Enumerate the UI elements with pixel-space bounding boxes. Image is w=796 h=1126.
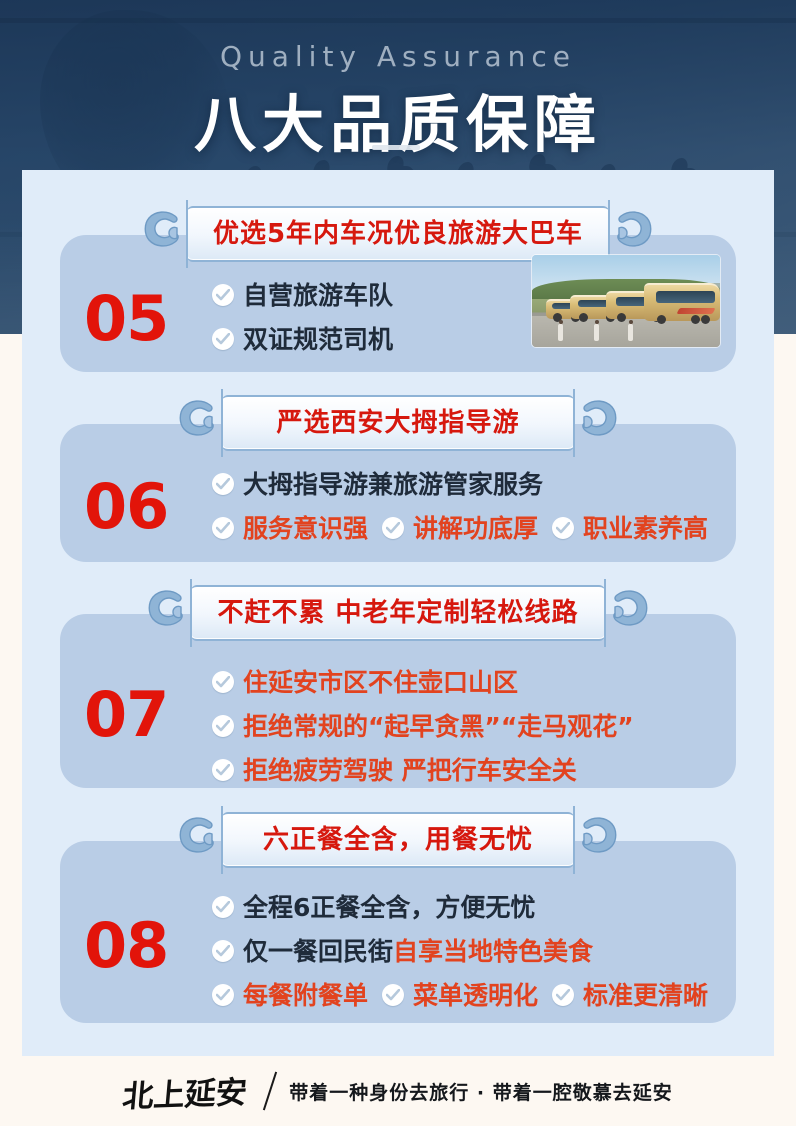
card-banner: 不赶不累 中老年定制轻松线路 — [60, 584, 736, 642]
card-number: 06 — [84, 476, 168, 538]
bullet-text: 全程6正餐全含，方便无忧 — [243, 895, 535, 920]
ruyi-cloud-icon — [574, 395, 626, 451]
ruyi-cloud-icon — [170, 395, 222, 451]
bullet-text-highlight: 自享当地特色美食 — [393, 939, 593, 964]
bullet-chip: 标准更清晰 — [552, 983, 708, 1008]
footer: 北上延安 带着一种身份去旅行 · 带着一腔敬慕去延安 — [0, 1056, 796, 1126]
bullet-chip: 自营旅游车队 — [212, 283, 393, 308]
bullet-text: 拒绝常规的“起早贪黑”“走马观花” — [243, 714, 634, 739]
card-rows: 大拇指导游兼旅游管家服务 服务意识强 讲解功底厚 — [212, 462, 718, 550]
bullet-chip: 全程6正餐全含，方便无忧 — [212, 895, 535, 920]
card-banner-plate: 不赶不累 中老年定制轻松线路 — [191, 585, 604, 641]
bullet-row: 住延安市区不住壶口山区 — [212, 660, 718, 704]
card-rows: 住延安市区不住壶口山区 拒绝常规的“起早贪黑”“走马观花” 拒绝疲劳驾驶 严把行… — [212, 660, 718, 792]
card-banner-plate: 六正餐全含，用餐无忧 — [222, 812, 574, 868]
bullet-text: 拒绝疲劳驾驶 严把行车安全关 — [243, 758, 577, 783]
ridge-line — [0, 18, 796, 23]
check-circle-icon — [212, 473, 234, 495]
bullet-text: 菜单透明化 — [413, 983, 538, 1008]
bullet-chip: 每餐附餐单 — [212, 983, 368, 1008]
footer-slogan: 带着一种身份去旅行 · 带着一腔敬慕去延安 — [289, 1078, 672, 1105]
ruyi-cloud-icon — [135, 206, 187, 262]
bullet-chip: 大拇指导游兼旅游管家服务 — [212, 472, 543, 497]
page-title: 八大品质保障 — [0, 74, 796, 164]
bullet-text: 职业素养高 — [583, 516, 708, 541]
quality-card-07: 不赶不累 中老年定制轻松线路 07 住延安市区不住壶口山区 — [60, 614, 736, 788]
bullet-row: 服务意识强 讲解功底厚 职业素养高 — [212, 506, 718, 550]
card-banner: 严选西安大拇指导游 — [60, 394, 736, 452]
bullet-text: 住延安市区不住壶口山区 — [243, 670, 518, 695]
check-circle-icon — [212, 984, 234, 1006]
quality-card-05: 优选5年内车况优良旅游大巴车 05 自营旅游车队 — [60, 235, 736, 372]
card-banner: 六正餐全含，用餐无忧 — [60, 811, 736, 869]
check-circle-icon — [212, 284, 234, 306]
bullet-chip: 服务意识强 — [212, 516, 368, 541]
bullet-row: 全程6正餐全含，方便无忧 — [212, 885, 718, 929]
title-underline-dash — [372, 145, 420, 150]
check-circle-icon — [212, 671, 234, 693]
ruyi-cloud-icon — [574, 812, 626, 868]
bullet-text: 服务意识强 — [243, 516, 368, 541]
ruyi-cloud-icon — [170, 812, 222, 868]
ruyi-cloud-icon — [605, 585, 657, 641]
check-circle-icon — [382, 984, 404, 1006]
bullet-text: 仅一餐回民街 — [243, 939, 393, 964]
card-rows: 全程6正餐全含，方便无忧 仅一餐回民街 自享当地特色美食 每餐附餐单 — [212, 885, 718, 1017]
bullet-row: 大拇指导游兼旅游管家服务 — [212, 462, 718, 506]
bullet-chip: 住延安市区不住壶口山区 — [212, 670, 518, 695]
ruyi-cloud-icon — [609, 206, 661, 262]
check-circle-icon — [212, 896, 234, 918]
check-circle-icon — [212, 940, 234, 962]
card-banner-plate: 优选5年内车况优良旅游大巴车 — [187, 206, 609, 262]
bullet-text: 讲解功底厚 — [413, 516, 538, 541]
check-circle-icon — [552, 984, 574, 1006]
bullet-row: 拒绝疲劳驾驶 严把行车安全关 — [212, 748, 718, 792]
card-banner-title: 严选西安大拇指导游 — [276, 397, 519, 449]
bullet-chip: 讲解功底厚 — [382, 516, 538, 541]
bullet-chip: 拒绝疲劳驾驶 严把行车安全关 — [212, 758, 577, 783]
poster-page: Quality Assurance 八大品质保障 优选5年内车况优良旅游大巴车 — [0, 0, 796, 1126]
bullet-chip: 拒绝常规的“起早贪黑”“走马观花” — [212, 714, 634, 739]
bullet-chip: 菜单透明化 — [382, 983, 538, 1008]
card-banner-title: 优选5年内车况优良旅游大巴车 — [213, 208, 583, 260]
quality-card-06: 严选西安大拇指导游 06 大拇指导游兼旅游管家服务 — [60, 424, 736, 562]
card-number: 05 — [84, 288, 168, 350]
quality-card-08: 六正餐全含，用餐无忧 08 全程6正餐全含，方便无忧 — [60, 841, 736, 1023]
ruyi-cloud-icon — [139, 585, 191, 641]
person-icon — [558, 324, 563, 341]
hero-subtitle: Quality Assurance — [0, 40, 796, 73]
bullet-text: 大拇指导游兼旅游管家服务 — [243, 472, 543, 497]
bullet-text: 每餐附餐单 — [243, 983, 368, 1008]
person-icon — [628, 324, 633, 341]
card-banner-title: 六正餐全含，用餐无忧 — [263, 814, 533, 866]
check-circle-icon — [212, 715, 234, 737]
check-circle-icon — [212, 759, 234, 781]
bullet-text: 标准更清晰 — [583, 983, 708, 1008]
check-circle-icon — [552, 517, 574, 539]
bullet-chip: 双证规范司机 — [212, 327, 393, 352]
card-number: 07 — [84, 684, 168, 746]
bus-icon — [644, 283, 720, 321]
card-banner-plate: 严选西安大拇指导游 — [222, 395, 574, 451]
card-banner-title: 不赶不累 中老年定制轻松线路 — [217, 587, 578, 639]
person-icon — [594, 324, 599, 341]
bullet-text: 双证规范司机 — [243, 327, 393, 352]
bullet-chip: 仅一餐回民街 — [212, 939, 393, 964]
bullet-text: 自营旅游车队 — [243, 283, 393, 308]
bullet-row: 每餐附餐单 菜单透明化 标准更清晰 — [212, 973, 718, 1017]
check-circle-icon — [212, 517, 234, 539]
brand-logo: 北上延安 — [121, 1066, 249, 1115]
card-number: 08 — [84, 915, 168, 977]
check-circle-icon — [382, 517, 404, 539]
divider-slash — [263, 1072, 277, 1111]
bus-fleet-photo — [532, 255, 720, 347]
bullet-row: 拒绝常规的“起早贪黑”“走马观花” — [212, 704, 718, 748]
check-circle-icon — [212, 328, 234, 350]
bullet-row: 仅一餐回民街 自享当地特色美食 — [212, 929, 718, 973]
bullet-chip: 职业素养高 — [552, 516, 708, 541]
